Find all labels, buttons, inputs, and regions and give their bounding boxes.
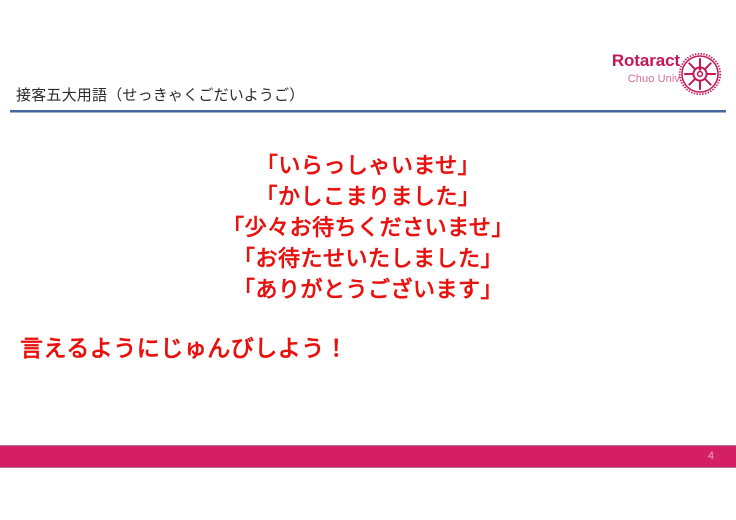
page-number: 4 — [708, 449, 714, 464]
phrase-line: 「お待たせいたしました」 — [0, 243, 736, 274]
brand-text-block: Rotaract Chuo Univ — [612, 52, 680, 85]
phrase-line: 「少々お待ちくださいませ」 — [0, 212, 736, 243]
phrase-line: 「いらっしゃいませ」 — [0, 150, 736, 181]
title-divider — [10, 110, 726, 113]
closing-message: 言えるようにじゅんびしよう！ — [20, 334, 348, 362]
footer-bar — [0, 445, 736, 468]
brand-name: Rotaract — [612, 52, 680, 69]
page-title: 接客五大用語（せっきゃくごだいようご） — [16, 84, 305, 105]
rotary-wheel-icon — [678, 52, 722, 96]
slide-canvas: Rotaract Chuo Univ — [0, 0, 736, 520]
phrase-line: 「かしこまりました」 — [0, 181, 736, 212]
brand-logo: Rotaract Chuo Univ — [592, 52, 728, 102]
brand-subtitle: Chuo Univ — [612, 74, 680, 85]
phrase-line: 「ありがとうございます」 — [0, 274, 736, 305]
phrase-list: 「いらっしゃいませ」 「かしこまりました」 「少々お待ちくださいませ」 「お待た… — [0, 150, 736, 305]
